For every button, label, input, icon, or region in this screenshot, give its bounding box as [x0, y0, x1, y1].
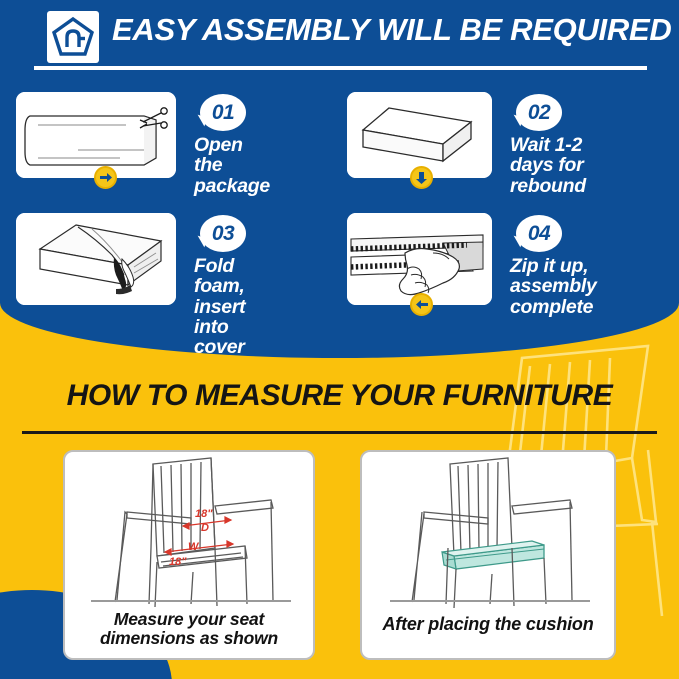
step-04-number-badge: 04 — [510, 215, 562, 255]
card-2-divider — [390, 600, 590, 602]
arrow-down-icon — [410, 166, 433, 189]
card-1-divider — [91, 600, 291, 602]
house-pentagon-logo-icon — [47, 11, 99, 63]
step-04-text: 04 Zip it up, assembly complete — [510, 215, 596, 317]
measure-card-seat-dimensions: 18" D W 18" Measure your seat dimensions… — [63, 450, 315, 660]
measure-card-after-cushion: After placing the cushion — [360, 450, 616, 660]
step-03-number-badge: 03 — [194, 215, 246, 255]
page-title: EASY ASSEMBLY WILL BE REQUIRED — [112, 12, 671, 48]
step-03-label: Fold foam, insert into cover — [194, 256, 246, 357]
step-01-text: 01 Open the package — [194, 94, 270, 196]
assembly-header: EASY ASSEMBLY WILL BE REQUIRED — [0, 0, 679, 70]
svg-text:D: D — [201, 522, 209, 534]
measure-card-2-caption: After placing the cushion — [362, 615, 614, 635]
step-04-illustration — [347, 213, 492, 305]
step-03-illustration — [16, 213, 176, 305]
header-divider — [34, 66, 647, 70]
svg-text:18": 18" — [195, 508, 213, 520]
step-01-illustration — [16, 92, 176, 178]
arrow-left-icon — [410, 293, 433, 316]
svg-text:W: W — [188, 541, 200, 553]
step-03-text: 03 Fold foam, insert into cover — [194, 215, 246, 357]
svg-text:18": 18" — [169, 556, 187, 568]
step-01-number-badge: 01 — [194, 94, 246, 134]
measure-title-divider — [22, 431, 657, 434]
arrow-right-icon — [94, 166, 117, 189]
infographic-page: EASY ASSEMBLY WILL BE REQUIRED — [0, 0, 679, 679]
step-01-label: Open the package — [194, 135, 270, 196]
step-02-number-badge: 02 — [510, 94, 562, 134]
patio-chair-with-dimension-arrows: 18" D W 18" — [65, 452, 315, 617]
step-02-label: Wait 1-2 days for rebound — [510, 135, 586, 196]
patio-chair-with-cushion — [362, 452, 616, 617]
measure-section-title: HOW TO MEASURE YOUR FURNITURE — [0, 379, 679, 413]
step-02-text: 02 Wait 1-2 days for rebound — [510, 94, 586, 196]
assembly-section: EASY ASSEMBLY WILL BE REQUIRED — [0, 0, 679, 358]
measure-card-1-caption: Measure your seat dimensions as shown — [65, 610, 313, 649]
step-04-label: Zip it up, assembly complete — [510, 256, 596, 317]
